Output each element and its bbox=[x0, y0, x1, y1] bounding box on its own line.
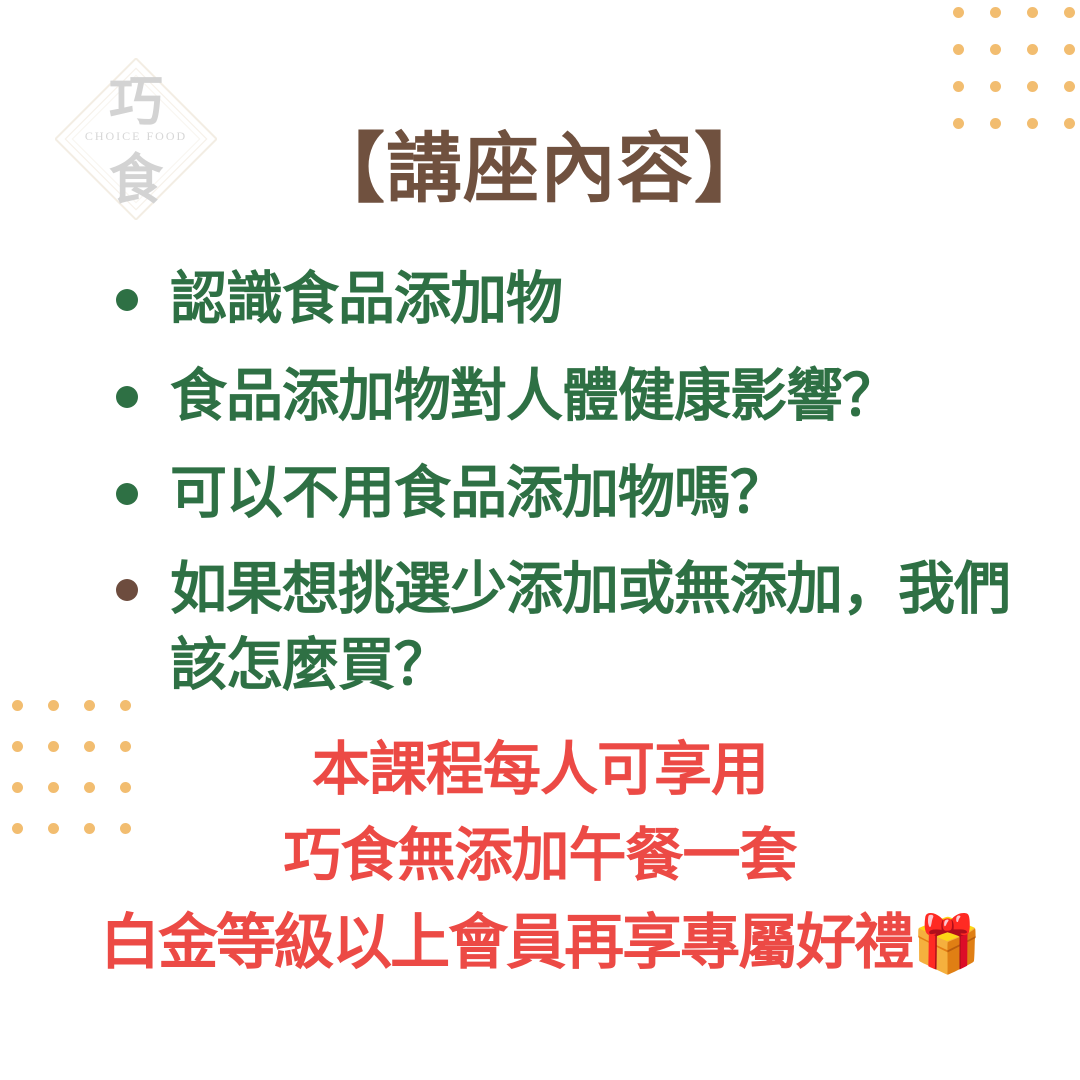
bullet-dot-icon bbox=[116, 386, 138, 408]
decorative-dot bbox=[990, 81, 1001, 92]
list-item: 認識食品添加物 bbox=[112, 262, 1012, 338]
list-item-label: 認識食品添加物 bbox=[170, 266, 562, 332]
decorative-dot bbox=[953, 44, 964, 55]
decorative-dot bbox=[84, 700, 95, 711]
page-title: 【講座內容】 bbox=[0, 127, 1080, 211]
decorative-dot bbox=[1027, 81, 1038, 92]
bullet-dot-icon bbox=[116, 579, 138, 601]
decorative-dot bbox=[1027, 7, 1038, 18]
list-item-label: 食品添加物對人體健康影響？ bbox=[170, 363, 898, 429]
decorative-dot bbox=[1064, 7, 1075, 18]
list-item-label: 如果想挑選少添加或無添加，我們該怎麼買？ bbox=[170, 556, 1010, 698]
promo-line-1: 本課程每人可享用 bbox=[0, 727, 1080, 813]
decorative-dot bbox=[1064, 81, 1075, 92]
list-item: 如果想挑選少添加或無添加，我們該怎麼買？ bbox=[112, 552, 1012, 704]
decorative-dot bbox=[12, 700, 23, 711]
decorative-dot bbox=[48, 700, 59, 711]
list-item: 食品添加物對人體健康影響？ bbox=[112, 359, 1012, 435]
poster-canvas: 巧 CHOICE FOOD 食 【講座內容】 認識食品添加物 食品添加物對人體健… bbox=[0, 0, 1080, 1080]
promo-line-3: 白金等級以上會員再享專屬好禮🎁 bbox=[0, 899, 1080, 988]
list-item-label: 可以不用食品添加物嗎？ bbox=[170, 460, 786, 526]
decorative-dot bbox=[953, 7, 964, 18]
bullet-dot-icon bbox=[116, 483, 138, 505]
promo-line-3-label: 白金等級以上會員再享專屬好禮 bbox=[100, 908, 912, 978]
bullet-dot-icon bbox=[116, 289, 138, 311]
gift-icon: 🎁 bbox=[912, 912, 980, 977]
list-item: 可以不用食品添加物嗎？ bbox=[112, 456, 1012, 532]
promo-line-2: 巧食無添加午餐一套 bbox=[0, 813, 1080, 899]
decorative-dot bbox=[990, 44, 1001, 55]
logo-cjk-top: 巧 bbox=[109, 69, 163, 133]
decorative-dot bbox=[1027, 44, 1038, 55]
decorative-dot bbox=[1064, 44, 1075, 55]
decorative-dot bbox=[990, 7, 1001, 18]
topic-list: 認識食品添加物 食品添加物對人體健康影響？ 可以不用食品添加物嗎？ 如果想挑選少… bbox=[112, 262, 1012, 725]
promo-block: 本課程每人可享用 巧食無添加午餐一套 白金等級以上會員再享專屬好禮🎁 bbox=[0, 727, 1080, 987]
decorative-dot bbox=[953, 81, 964, 92]
